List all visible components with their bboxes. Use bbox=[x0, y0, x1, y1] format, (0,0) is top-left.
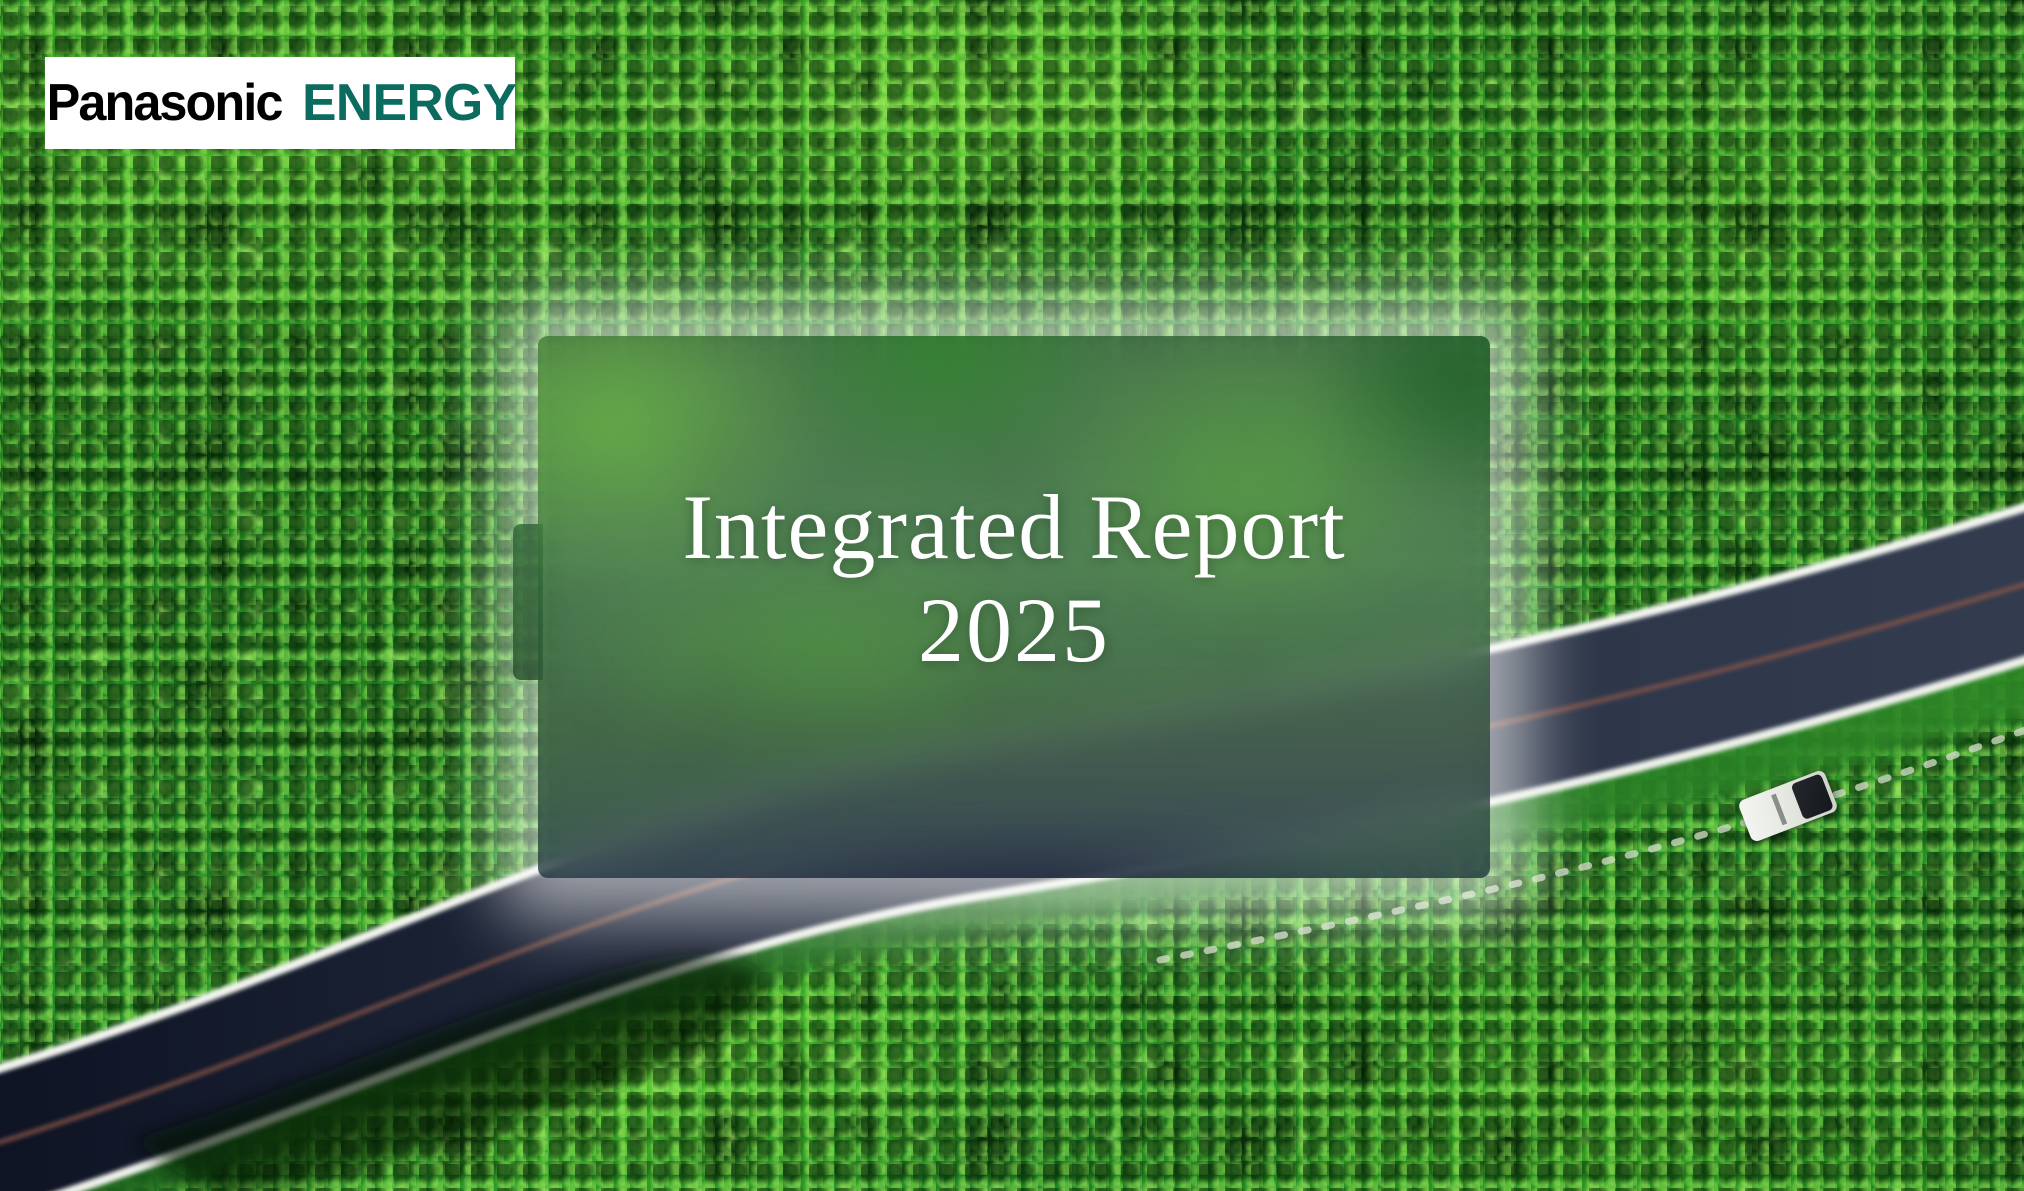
logo-wordmark-panasonic: Panasonic bbox=[46, 77, 281, 129]
panasonic-energy-logo: Panasonic ENERGY bbox=[45, 57, 515, 149]
car-windshield bbox=[1791, 773, 1834, 820]
cover-title: Integrated Report bbox=[682, 476, 1345, 579]
cover-title-block: Integrated Report 2025 bbox=[682, 476, 1345, 738]
report-cover-page: Panasonic ENERGY Integrated Report 2025 bbox=[0, 0, 2024, 1191]
title-card: Integrated Report 2025 bbox=[538, 336, 1490, 878]
car-roofline bbox=[1771, 794, 1787, 826]
cover-year: 2025 bbox=[682, 579, 1345, 682]
logo-wordmark-energy: ENERGY bbox=[302, 77, 516, 129]
